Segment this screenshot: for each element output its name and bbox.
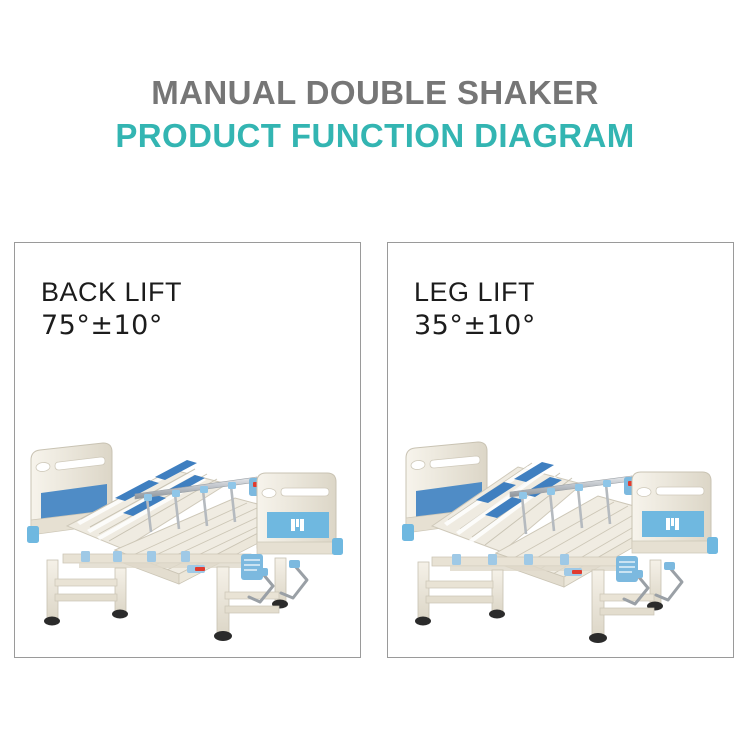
panel-back-lift-label: BACK LIFT 75°±10° (41, 275, 182, 343)
frame-release-lever (572, 570, 582, 574)
leg-foot (44, 617, 60, 626)
diagram-panels: BACK LIFT 75°±10° (14, 242, 736, 660)
panel-leg-lift-label: LEG LIFT 35°±10° (414, 275, 536, 343)
bed-svg-leg-lift (392, 434, 730, 649)
leg-lift-angle: 35°±10° (414, 309, 536, 343)
leg-foot (214, 631, 232, 641)
footboard (632, 472, 718, 554)
bed-svg-back-lift (19, 434, 357, 649)
leg-foot (589, 633, 607, 643)
control-box (616, 556, 638, 582)
bed-illustration-leg-lift (392, 434, 730, 649)
head-corner-cap (402, 524, 414, 541)
leg-foot (112, 610, 128, 619)
page-subtitle: PRODUCT FUNCTION DIAGRAM (0, 114, 750, 158)
leg-lift-title: LEG LIFT (414, 275, 536, 309)
footboard (257, 473, 343, 555)
frame-release-lever (195, 567, 205, 571)
control-box (241, 554, 263, 580)
foot-corner-cap (707, 537, 718, 554)
page-title: MANUAL DOUBLE SHAKER (0, 72, 750, 114)
foot-corner-cap (332, 538, 343, 555)
leg-foot (415, 617, 431, 626)
footboard-handle-slot (262, 489, 276, 498)
head-corner-cap (27, 526, 39, 543)
under-frame (432, 554, 638, 582)
leg-foot (489, 610, 505, 619)
page-title-block: MANUAL DOUBLE SHAKER PRODUCT FUNCTION DI… (0, 72, 750, 158)
panel-leg-lift: LEG LIFT 35°±10° (387, 242, 734, 658)
panel-back-lift: BACK LIFT 75°±10° (14, 242, 361, 658)
footboard-handle-slot (637, 488, 651, 497)
bed-illustration-back-lift (19, 434, 357, 649)
back-lift-title: BACK LIFT (41, 275, 182, 309)
back-lift-angle: 75°±10° (41, 309, 182, 343)
